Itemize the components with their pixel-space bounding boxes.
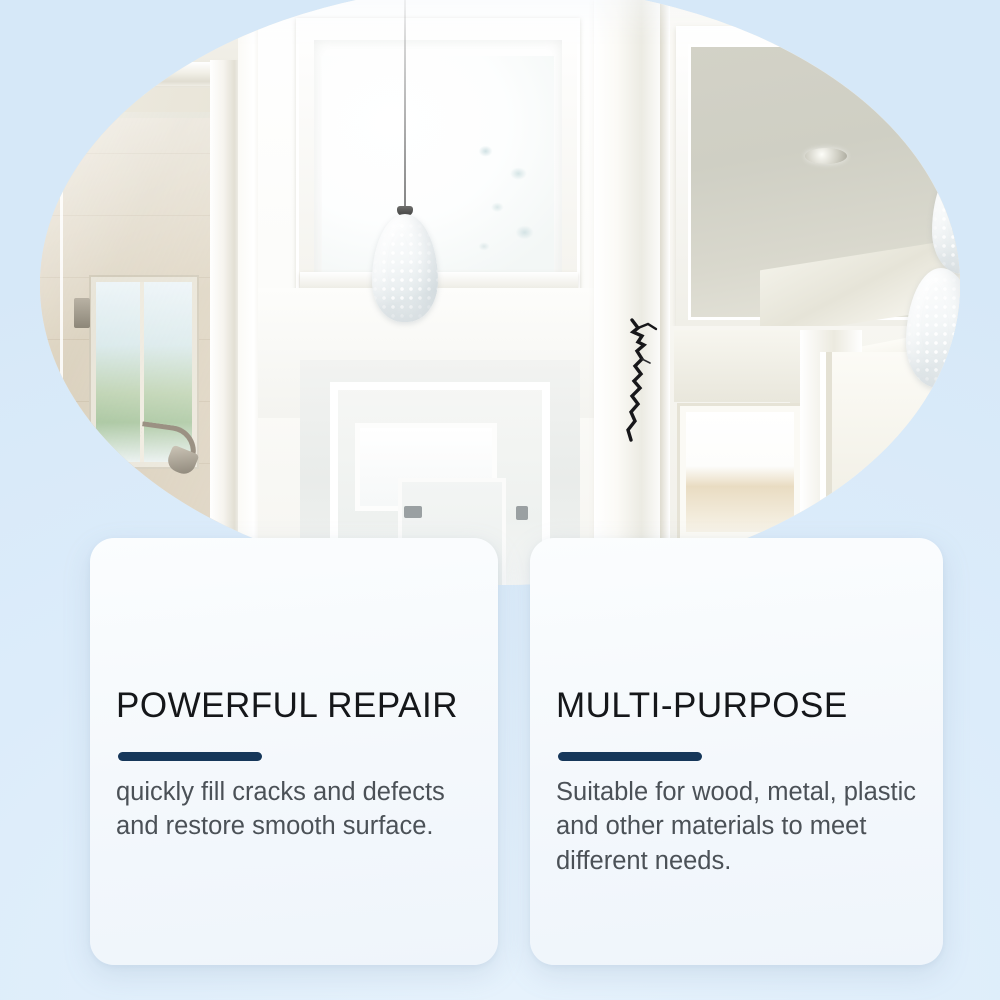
feature-card-title: MULTI-PURPOSE — [556, 688, 921, 725]
product-feature-banner: POWERFUL REPAIR quickly fill cracks and … — [0, 0, 1000, 1000]
feature-card-accent-bar — [558, 752, 702, 761]
feature-card-accent-bar — [118, 752, 262, 761]
feature-card-body: quickly fill cracks and defects and rest… — [116, 775, 476, 844]
feature-card-powerful-repair[interactable]: POWERFUL REPAIR quickly fill cracks and … — [90, 538, 498, 965]
feature-card-title: POWERFUL REPAIR — [116, 688, 476, 725]
feature-card-content: POWERFUL REPAIR quickly fill cracks and … — [116, 688, 476, 844]
feature-card-multi-purpose[interactable]: MULTI-PURPOSE Suitable for wood, metal, … — [530, 538, 943, 965]
feature-card-body: Suitable for wood, metal, plastic and ot… — [556, 775, 921, 879]
feature-card-content: MULTI-PURPOSE Suitable for wood, metal, … — [556, 688, 921, 879]
